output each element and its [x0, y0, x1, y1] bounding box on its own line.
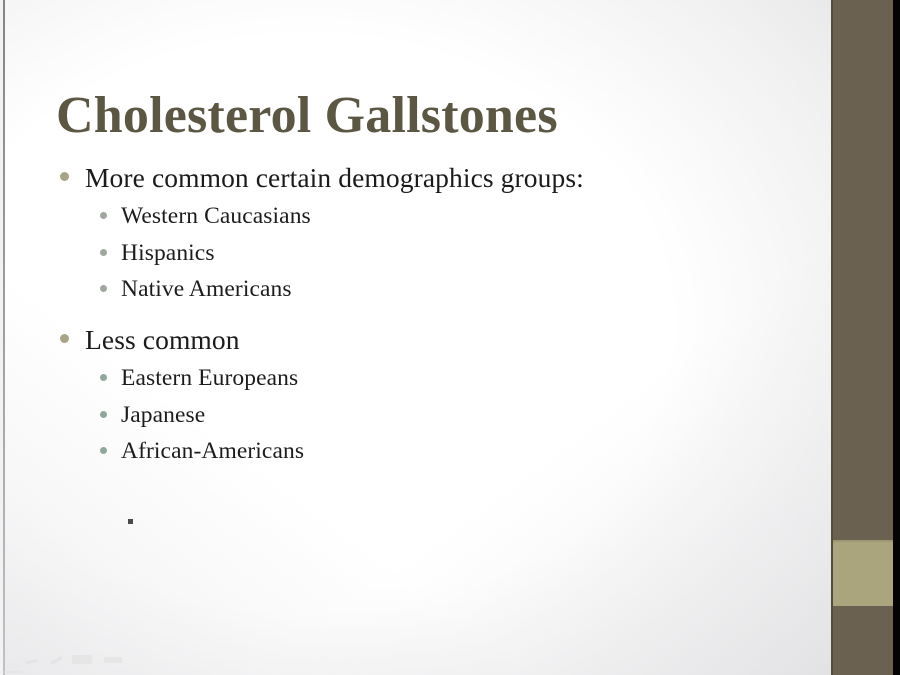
bullet-dot-icon: [60, 334, 69, 343]
bullet-level2-text: Western Caucasians: [121, 201, 311, 232]
faint-toolbar-ghost: [72, 655, 92, 664]
bullet-level2-text: Japanese: [121, 400, 205, 431]
bullet-level1-text: More common certain demographics groups:: [85, 160, 584, 196]
bullet-level2-native-americans: Native Americans: [56, 274, 796, 305]
bullet-level2-eastern-europeans: Eastern Europeans: [56, 363, 796, 394]
slide-title: Cholesterol Gallstones: [56, 87, 558, 145]
faint-bottom-line: [4, 671, 22, 673]
bullet-dot-icon: [100, 249, 107, 256]
bullet-level1-less-common: Less common: [56, 322, 796, 358]
stray-mark: [128, 519, 133, 524]
bullet-group-more-common: More common certain demographics groups:…: [56, 160, 796, 305]
bullet-dot-icon: [100, 212, 107, 219]
bullet-level2-japanese: Japanese: [56, 400, 796, 431]
right-black-strip: [893, 0, 900, 675]
bullet-dot-icon: [60, 172, 69, 181]
bullet-level1-text: Less common: [85, 322, 240, 358]
presentation-slide: Cholesterol Gallstones More common certa…: [0, 0, 900, 675]
bullet-level2-text: Eastern Europeans: [121, 363, 298, 394]
slide-body-content: More common certain demographics groups:…: [56, 160, 796, 472]
bullet-dot-icon: [100, 447, 107, 454]
bullet-level2-text: Native Americans: [121, 274, 292, 305]
bullet-level2-western-caucasians: Western Caucasians: [56, 201, 796, 232]
bullet-group-spacer: [56, 310, 796, 322]
bullet-dot-icon: [100, 411, 107, 418]
bullet-dot-icon: [100, 374, 107, 381]
bullet-group-less-common: Less common Eastern Europeans Japanese A…: [56, 322, 796, 467]
bullet-level2-text: African-Americans: [121, 436, 304, 467]
bullet-level1-more-common: More common certain demographics groups:: [56, 160, 796, 196]
bullet-level2-african-americans: African-Americans: [56, 436, 796, 467]
left-edge-hairline: [3, 0, 5, 675]
faint-toolbar-ghost: [104, 657, 122, 663]
bullet-level2-text: Hispanics: [121, 238, 215, 269]
bullet-dot-icon: [100, 285, 107, 292]
bullet-level2-hispanics: Hispanics: [56, 238, 796, 269]
decorative-sidebar-accent: [833, 542, 893, 606]
